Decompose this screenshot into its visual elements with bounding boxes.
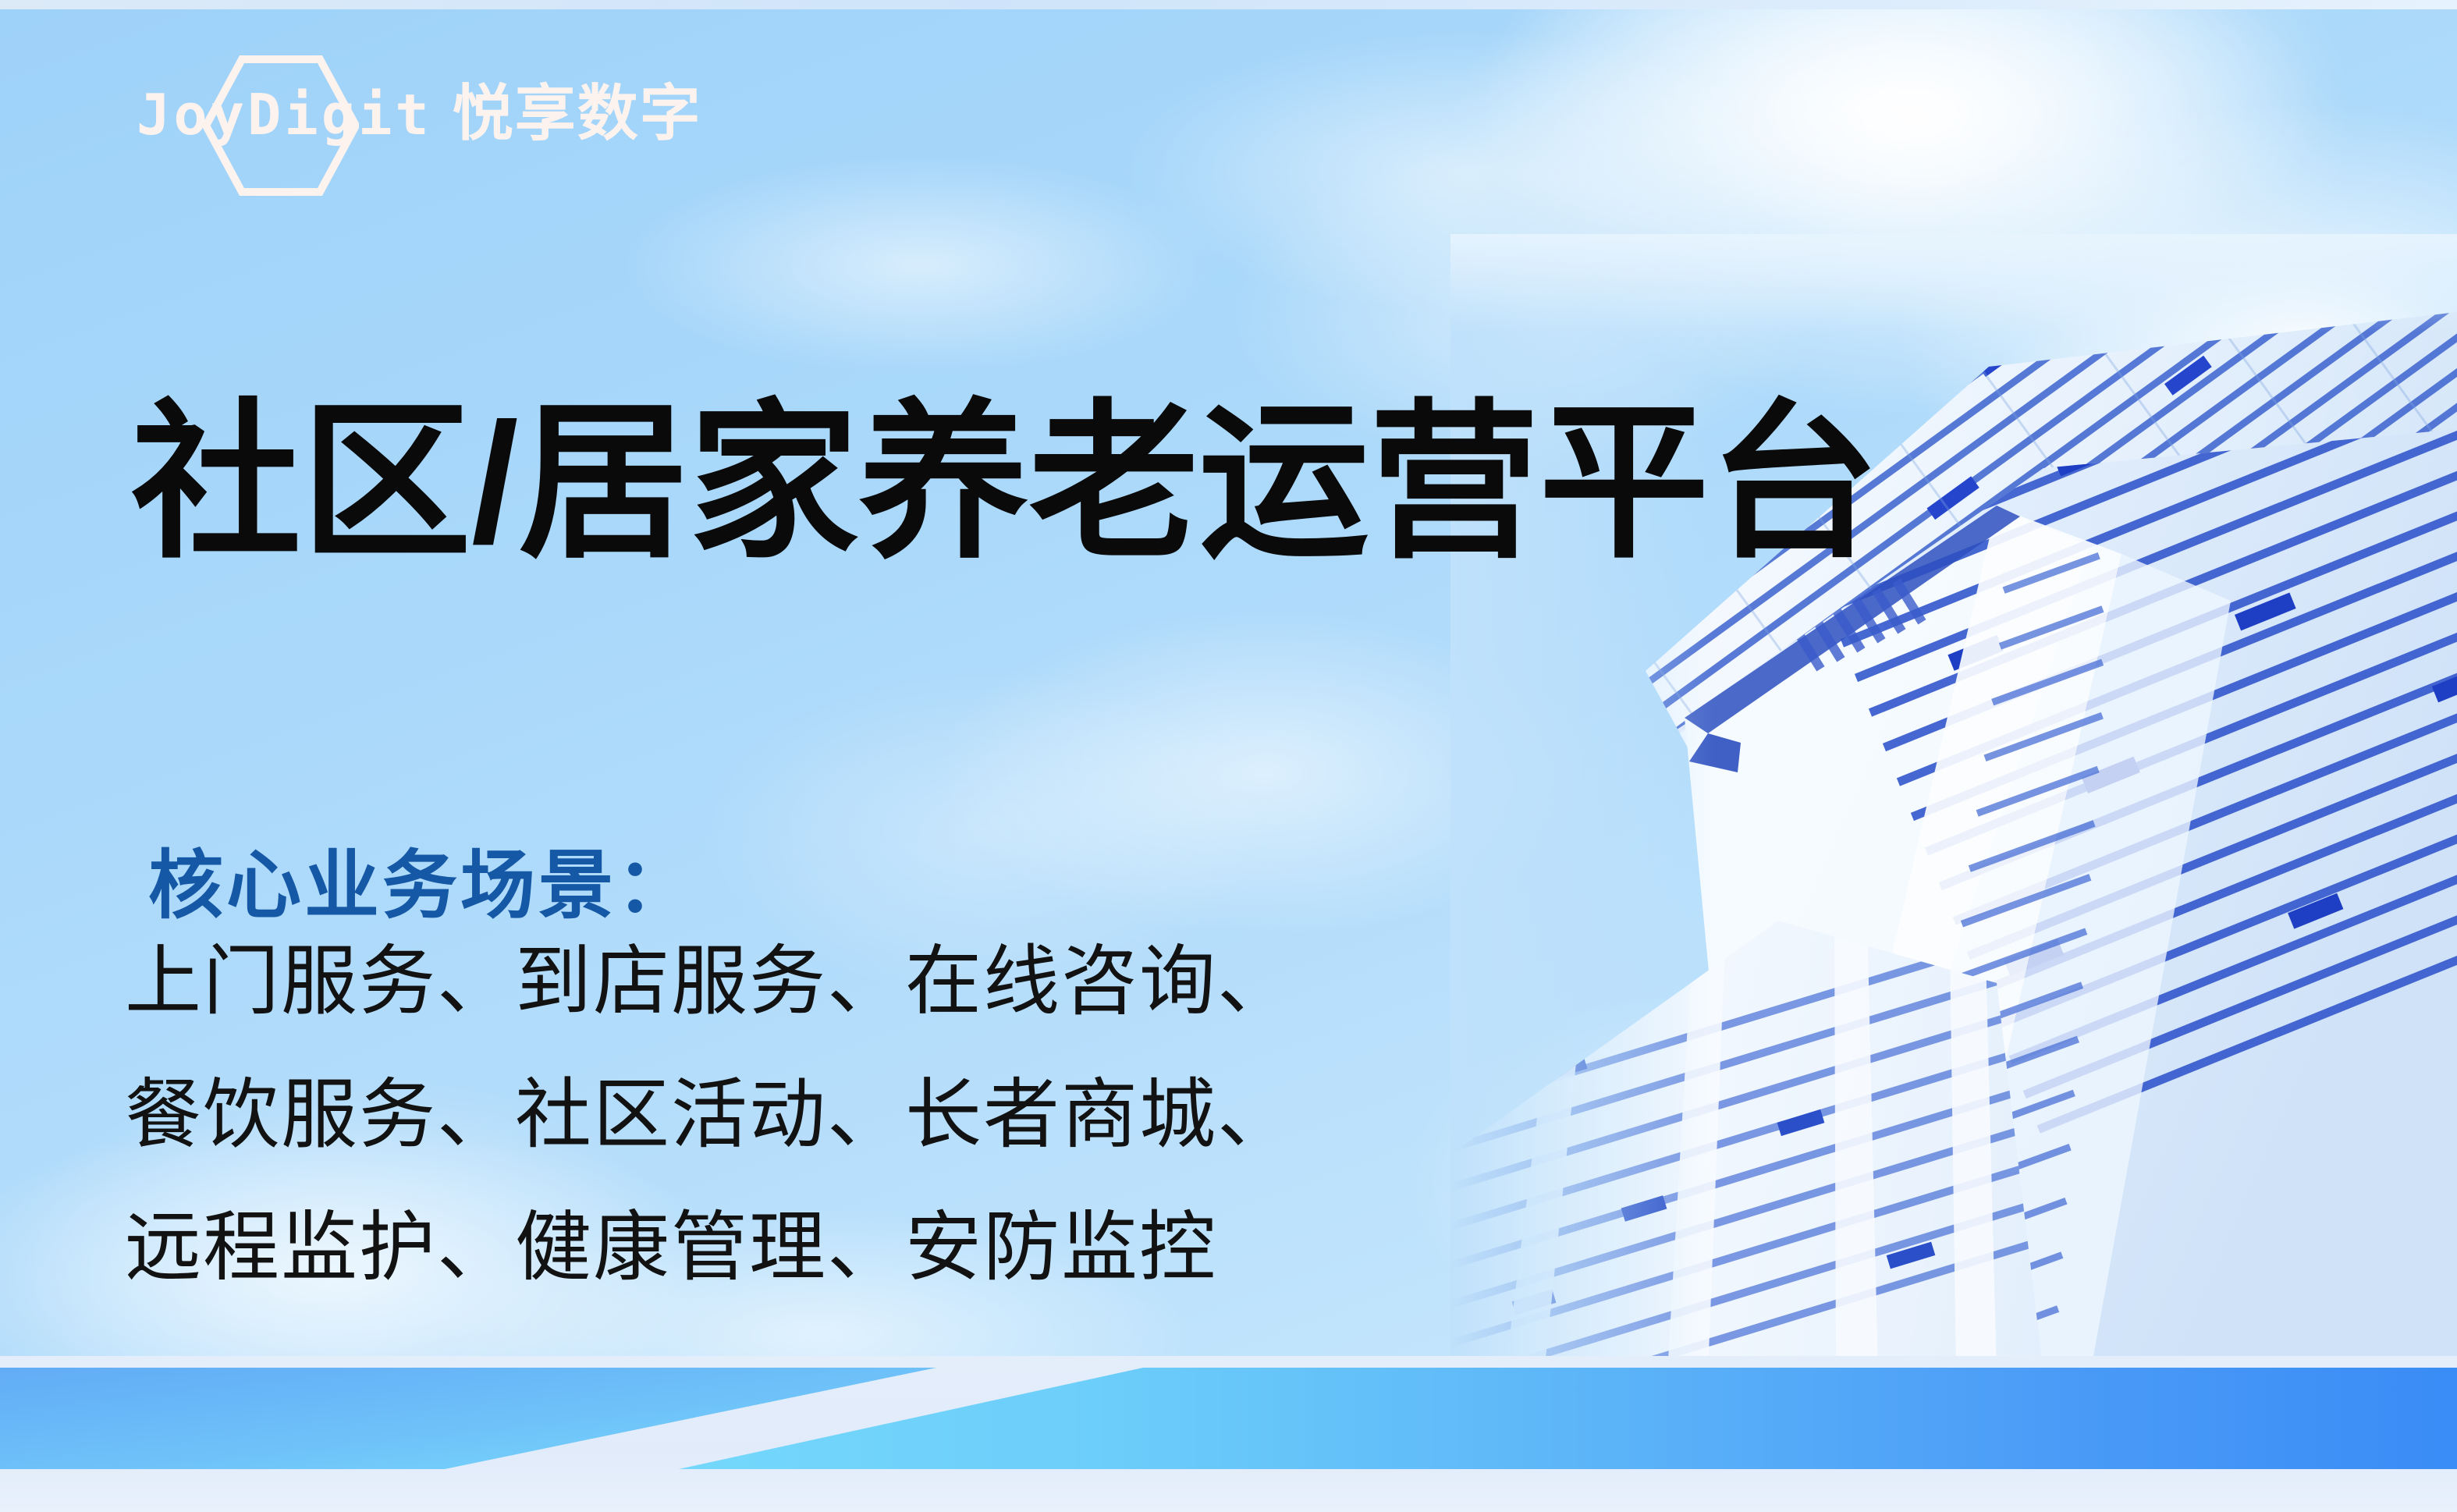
page-title: 社区/居家养老运营平台 (131, 389, 1880, 579)
top-edge-strip (0, 0, 2457, 9)
core-scenarios-list: 上门服务、到店服务、在线咨询、 餐饮服务、社区活动、长者商城、 远程监护、健康管… (125, 914, 1295, 1314)
scenario-line: 远程监护、健康管理、安防监控 (125, 1180, 1295, 1314)
logo-chinese-text: 悦享数字 (453, 83, 702, 144)
diagonal-band (0, 1368, 2457, 1469)
brand-logo[interactable]: JoyDigit 悦享数字 (137, 55, 683, 203)
footer-decoration (0, 1356, 2457, 1512)
scenario-line: 餐饮服务、社区活动、长者商城、 (125, 1048, 1295, 1181)
presentation-slide: JoyDigit 悦享数字 社区/居家养老运营平台 核心业务场景： 上门服务、到… (0, 0, 2457, 1512)
scenario-line: 上门服务、到店服务、在线咨询、 (125, 914, 1295, 1048)
logo-latin-text: JoyDigit (137, 87, 432, 143)
